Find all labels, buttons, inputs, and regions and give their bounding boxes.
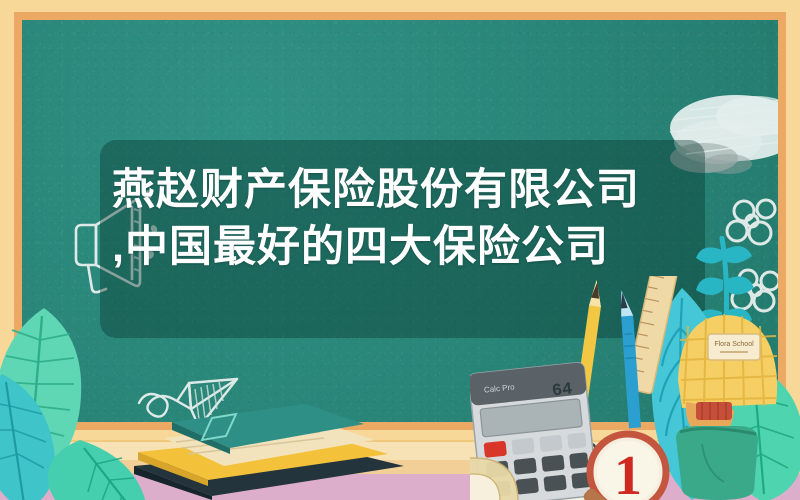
- backpack-icon: Flora School: [678, 314, 777, 436]
- backpack-tag-label: Flora School: [714, 341, 754, 348]
- calculator-display: 64: [551, 380, 573, 401]
- page-title: 燕赵财产保险股份有限公司 ,中国最好的四大保险公司: [112, 162, 702, 276]
- cup-icon: [676, 426, 758, 500]
- school-supplies-group: Flora School: [470, 276, 800, 500]
- magnifier-number: 1: [614, 445, 642, 500]
- banner-stage: 燕赵财产保险股份有限公司 ,中国最好的四大保险公司: [0, 0, 800, 500]
- book-stack: [120, 404, 410, 500]
